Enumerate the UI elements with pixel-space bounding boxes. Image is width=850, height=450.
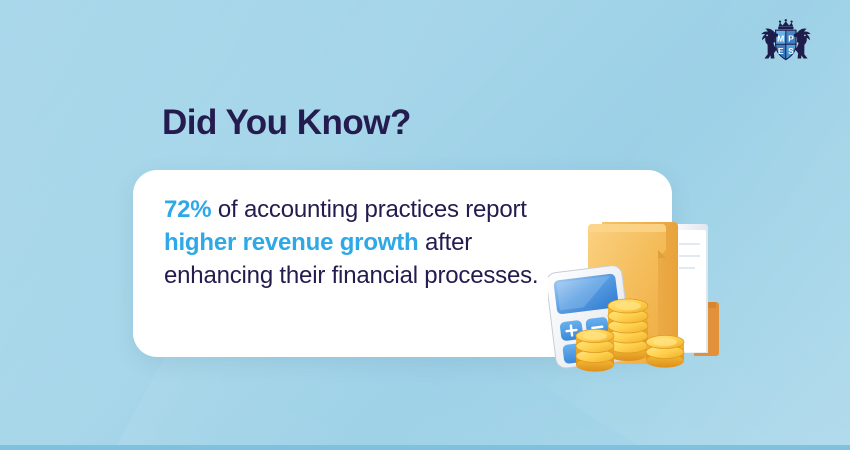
fact-text-highlight: higher revenue growth <box>164 229 419 256</box>
finance-illustration <box>548 210 740 385</box>
finance-illustration-svg <box>548 210 740 385</box>
shield-letter-m: M <box>777 33 784 43</box>
shield-letter-e: E <box>778 46 784 56</box>
shield-letter-p: P <box>788 33 794 43</box>
shield-letter-s: S <box>788 46 794 56</box>
fact-text: 72% of accounting practices report highe… <box>164 193 564 292</box>
shield-icon: M P E S <box>776 30 796 59</box>
coin-stack-left <box>576 329 614 371</box>
fact-text-part-1: of accounting practices report <box>211 196 526 223</box>
statistic-value: 72% <box>164 196 211 223</box>
mpes-crest-icon: M P E S <box>750 14 822 66</box>
bottom-edge-strip <box>0 445 850 450</box>
page-title: Did You Know? <box>162 103 411 143</box>
crown-icon <box>778 19 793 29</box>
coin-stack-right <box>646 335 684 367</box>
poster-canvas: M P E S Did You Know? 72% of accounting … <box>0 0 850 450</box>
brand-logo: M P E S <box>750 14 822 66</box>
